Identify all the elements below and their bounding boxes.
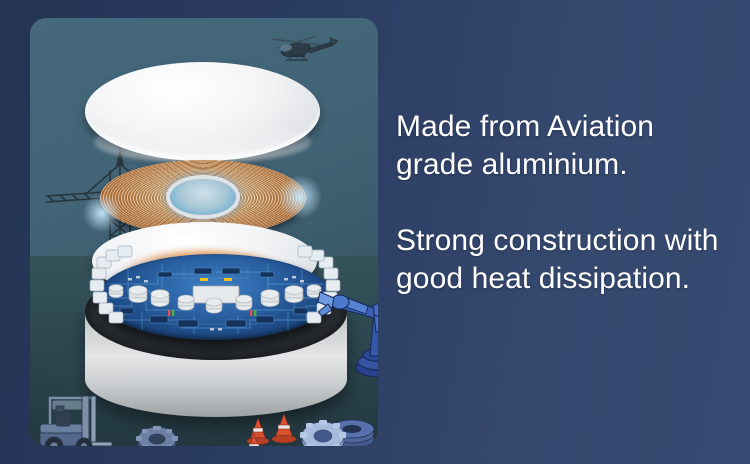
coil-glow-right xyxy=(277,174,323,220)
feature-paragraph-2: Strong construction with good heat dissi… xyxy=(396,222,726,298)
robot-arm-icon xyxy=(318,270,378,380)
gear-icon xyxy=(134,422,180,446)
feature-paragraph-1: Made from Aviation grade aluminium. xyxy=(396,108,726,184)
chain-links xyxy=(86,244,348,354)
slide-root: Made from Aviation grade aluminium. Stro… xyxy=(0,0,750,464)
aluminium-top-plate xyxy=(85,62,320,161)
coil-glow-left xyxy=(82,193,122,233)
helicopter-icon xyxy=(266,32,340,66)
feature-copy: Made from Aviation grade aluminium. Stro… xyxy=(396,108,726,298)
product-image-panel xyxy=(30,18,378,446)
gear-stack-icon xyxy=(298,408,378,446)
